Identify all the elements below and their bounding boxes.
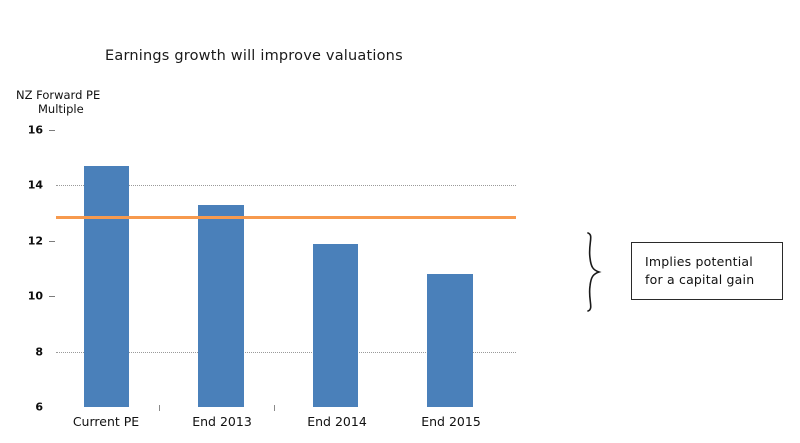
y-tick-label-16: 16 <box>28 124 43 137</box>
y-tick-label-6: 6 <box>35 401 43 414</box>
y-axis-title: NZ Forward PE Multiple <box>16 88 100 116</box>
y-tick-label-12: 12 <box>28 234 43 247</box>
annotation-box: Implies potential for a capital gain <box>631 242 783 300</box>
annotation-text-line1: Implies potential <box>645 253 754 271</box>
x-axis-label-end-2015: End 2015 <box>421 414 481 429</box>
annotation-text: Implies potential for a capital gain <box>645 253 754 289</box>
y-axis-title-line2: Multiple <box>16 102 100 116</box>
x-axis-label-end-2013: End 2013 <box>192 414 252 429</box>
x-axis-label-end-2014: End 2014 <box>307 414 367 429</box>
y-tick-mark-16 <box>49 130 55 131</box>
bar-end-2013[interactable] <box>198 205 244 407</box>
bar-end-2015[interactable] <box>427 274 473 407</box>
y-tick-label-8: 8 <box>35 345 43 358</box>
average-trend-line <box>56 216 516 219</box>
curly-brace-icon <box>584 232 606 312</box>
chart-container: Earnings growth will improve valuations … <box>0 0 800 443</box>
y-tick-mark-12 <box>49 241 55 242</box>
x-axis-tick-1 <box>159 405 160 411</box>
y-tick-label-10: 10 <box>28 290 43 303</box>
chart-title: Earnings growth will improve valuations <box>105 48 403 64</box>
y-axis-title-line1: NZ Forward PE <box>16 88 100 102</box>
plot-area: 16 14 12 10 8 6 <box>56 130 516 407</box>
annotation-text-line2: for a capital gain <box>645 271 754 289</box>
y-tick-label-14: 14 <box>28 179 43 192</box>
bar-end-2014[interactable] <box>313 244 358 407</box>
bar-current-pe[interactable] <box>84 166 129 407</box>
y-tick-mark-10 <box>49 296 55 297</box>
x-axis-label-current-pe: Current PE <box>73 414 139 429</box>
x-axis-tick-2 <box>274 405 275 411</box>
